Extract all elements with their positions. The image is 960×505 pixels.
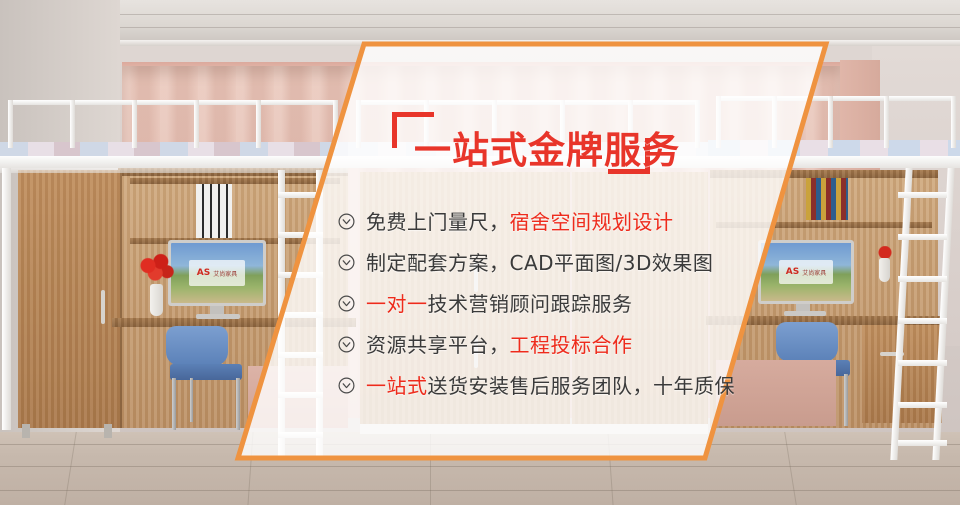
list-item-text: 制定配套方案，CAD平面图/3D效果图 — [366, 247, 713, 276]
list-item-highlight: 宿舍空间规划设计 — [510, 210, 674, 234]
circle-chevron-down-icon — [338, 336, 355, 353]
list-item: 资源共享平台，工程投标合作 — [338, 323, 938, 364]
banner-content: 一站式金牌服务 免费上门量尺，宿舍空间规划设计 — [0, 0, 960, 505]
list-item: 制定配套方案，CAD平面图/3D效果图 — [338, 241, 938, 282]
title-block: 一站式金牌服务 — [392, 112, 672, 178]
list-item-text: 一站式送货安装售后服务团队，十年质保 — [366, 370, 735, 399]
circle-chevron-down-icon — [338, 295, 355, 312]
list-item-plain-before: 资源共享平台， — [366, 333, 510, 357]
list-item-highlight: 一对一 — [366, 292, 428, 316]
list-item-plain-after: 技术营销顾问跟踪服务 — [428, 292, 633, 316]
bracket-top-left-vertical — [392, 112, 397, 148]
promo-banner: AS 艾尚家具 — [0, 0, 960, 505]
service-list: 免费上门量尺，宿舍空间规划设计 制定配套方案，CAD平面图/3D效果图 — [338, 200, 938, 405]
list-item: 一对一技术营销顾问跟踪服务 — [338, 282, 938, 323]
list-item-plain-before: 免费上门量尺， — [366, 210, 510, 234]
bracket-top-left-horizontal — [392, 112, 434, 117]
list-item-highlight: 工程投标合作 — [510, 333, 633, 357]
circle-chevron-down-icon — [338, 213, 355, 230]
page-title: 一站式金牌服务 — [414, 120, 680, 174]
list-item: 一站式送货安装售后服务团队，十年质保 — [338, 364, 938, 405]
list-item-highlight: 一站式 — [366, 374, 428, 398]
list-item: 免费上门量尺，宿舍空间规划设计 — [338, 200, 938, 241]
list-item-text: 一对一技术营销顾问跟踪服务 — [366, 288, 633, 317]
list-item-text: 免费上门量尺，宿舍空间规划设计 — [366, 206, 674, 235]
list-item-text: 资源共享平台，工程投标合作 — [366, 329, 633, 358]
circle-chevron-down-icon — [338, 254, 355, 271]
circle-chevron-down-icon — [338, 377, 355, 394]
list-item-plain-after: 送货安装售后服务团队，十年质保 — [428, 374, 736, 398]
list-item-plain-before: 制定配套方案，CAD平面图/3D效果图 — [366, 251, 713, 275]
